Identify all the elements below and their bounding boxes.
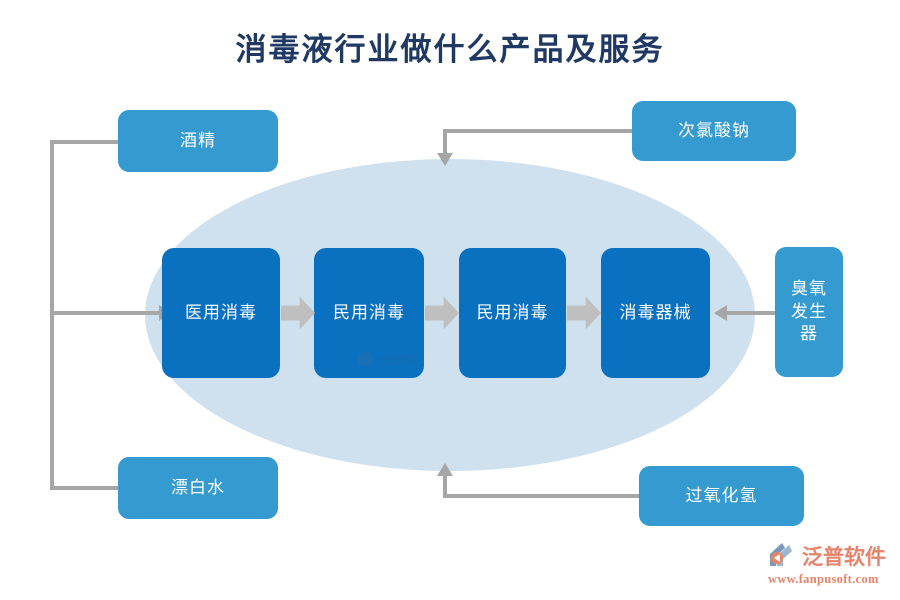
core-box-civil-disinfection-2[interactable]: 民用消毒 (459, 248, 566, 378)
connector-ozone-generator-line (726, 311, 776, 315)
connector-hydrogen-peroxide-line (443, 494, 641, 498)
connector-bleach-line (50, 486, 122, 490)
outer-box-ozone-generator[interactable]: 臭氧 发生 器 (775, 247, 843, 377)
core-box-label: 医用消毒 (185, 303, 257, 323)
connector-sodium-hypochlorite-arrowhead (437, 153, 453, 166)
outer-box-label: 臭氧 发生 器 (791, 278, 827, 347)
outer-box-label: 过氧化氢 (686, 486, 758, 506)
diagram-canvas: 消毒液行业做什么产品及服务 医用消毒 民用消毒 民用消毒 消毒器械 酒精 次氯酸… (0, 0, 900, 600)
connector-left-to-core-line (50, 311, 162, 315)
connector-hydrogen-peroxide-rise (443, 474, 447, 498)
outer-box-label: 漂白水 (171, 478, 225, 498)
core-box-label: 民用消毒 (477, 303, 549, 323)
outer-box-label: 酒精 (180, 131, 216, 151)
connector-alcohol-line (50, 140, 122, 144)
page-title: 消毒液行业做什么产品及服务 (0, 24, 900, 69)
company-logo: 泛普软件 www.fanpusoft.com (768, 541, 892, 593)
connector-hydrogen-peroxide-arrowhead (437, 463, 453, 476)
connector-ozone-generator-arrowhead (714, 305, 727, 321)
connector-left-trunk (50, 140, 54, 490)
logo-url: www.fanpusoft.com (768, 572, 892, 587)
fanpu-logo-mark-icon (768, 542, 798, 570)
outer-box-sodium-hypochlorite[interactable]: 次氯酸钠 (632, 101, 796, 161)
core-box-label: 民用消毒 (333, 303, 405, 323)
outer-box-bleach[interactable]: 漂白水 (118, 457, 278, 519)
outer-box-hydrogen-peroxide[interactable]: 过氧化氢 (639, 466, 804, 526)
core-box-disinfection-equipment[interactable]: 消毒器械 (601, 248, 710, 378)
outer-box-label: 次氯酸钠 (678, 121, 750, 141)
core-box-civil-disinfection-1[interactable]: 民用消毒 (314, 248, 424, 378)
core-box-label: 消毒器械 (620, 303, 692, 323)
logo-company-name: 泛普软件 (802, 541, 886, 571)
connector-sodium-hypochlorite-line (443, 129, 638, 133)
outer-box-alcohol[interactable]: 酒精 (118, 110, 278, 172)
core-box-medical-disinfection[interactable]: 医用消毒 (162, 248, 280, 378)
